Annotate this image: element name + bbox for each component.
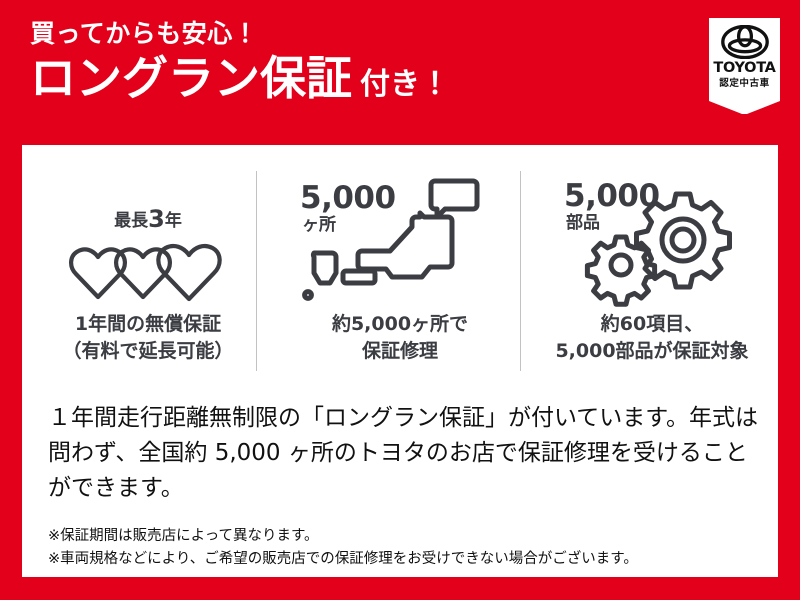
header-headline-row: ロングラン保証 付き！ [30, 54, 670, 102]
toyota-wordmark: TOYOTA [713, 61, 775, 76]
locations-number: 5,000 [300, 183, 396, 214]
header-text-block: 買ってからも安心！ ロングラン保証 付き！ [30, 20, 670, 102]
feature-caption: 1年間の無償保証 （有料で延長可能） [62, 311, 233, 365]
footnote-line: ※車両規格などにより、ご希望の販売店での保証修理をお受けできない場合がございます… [48, 548, 768, 571]
feature-caption: 約5,000ヶ所で 保証修理 [332, 311, 468, 365]
parts-number: 5,000 [564, 181, 660, 212]
toyota-certified-subtitle: 認定中古車 [719, 79, 770, 89]
footnotes: ※保証期間は販売店によって異なります。 ※車両規格などにより、ご希望の販売店での… [48, 525, 768, 572]
feature-icon-zone: 5,000 ヶ所 [274, 159, 526, 309]
logo-chevron-icon [709, 98, 780, 120]
feature-columns: 最長3年 1年間の無償保証 （有料で延長可能） [22, 159, 778, 391]
toyota-ellipse-emblem-icon [721, 25, 769, 59]
header-headline: ロングラン保証 [30, 54, 352, 102]
header-kicker: 買ってからも安心！ [30, 20, 670, 48]
feature-icon-zone: 最長3年 [22, 159, 274, 309]
badge-suffix: 年 [165, 211, 182, 231]
badge-prefix: 最長 [114, 211, 148, 231]
parts-unit: 部品 [566, 215, 600, 232]
advertisement-banner: 買ってからも安心！ ロングラン保証 付き！ TOYOTA 認定中古車 [0, 0, 800, 600]
feature-caption: 約60項目、 5,000部品が保証対象 [555, 311, 748, 365]
feature-warranty-term: 最長3年 1年間の無償保証 （有料で延長可能） [22, 159, 274, 391]
badge-number: 3 [148, 205, 165, 233]
feature-covered-parts: 5,000 部品 約60項目、 5,000部品が保証対象 [526, 159, 778, 391]
body-copy: １年間走行距離無制限の「ロングラン保証」が付いています。年式は問わず、全国約 5… [48, 401, 760, 506]
feature-service-locations: 5,000 ヶ所 約5,000ヶ所で 保証修理 [274, 159, 526, 391]
warranty-term-badge: 最長3年 [114, 207, 182, 231]
feature-icon-zone: 5,000 部品 [526, 159, 778, 309]
footnote-line: ※保証期間は販売店によって異なります。 [48, 525, 768, 548]
header-band: 買ってからも安心！ ロングラン保証 付き！ TOYOTA 認定中古車 [0, 0, 800, 139]
content-panel: 最長3年 1年間の無償保証 （有料で延長可能） [22, 145, 778, 577]
locations-unit: ヶ所 [302, 217, 336, 234]
three-hearts-icon [68, 239, 228, 303]
toyota-certified-logo: TOYOTA 認定中古車 [707, 16, 782, 122]
header-headline-suffix: 付き！ [360, 69, 450, 101]
